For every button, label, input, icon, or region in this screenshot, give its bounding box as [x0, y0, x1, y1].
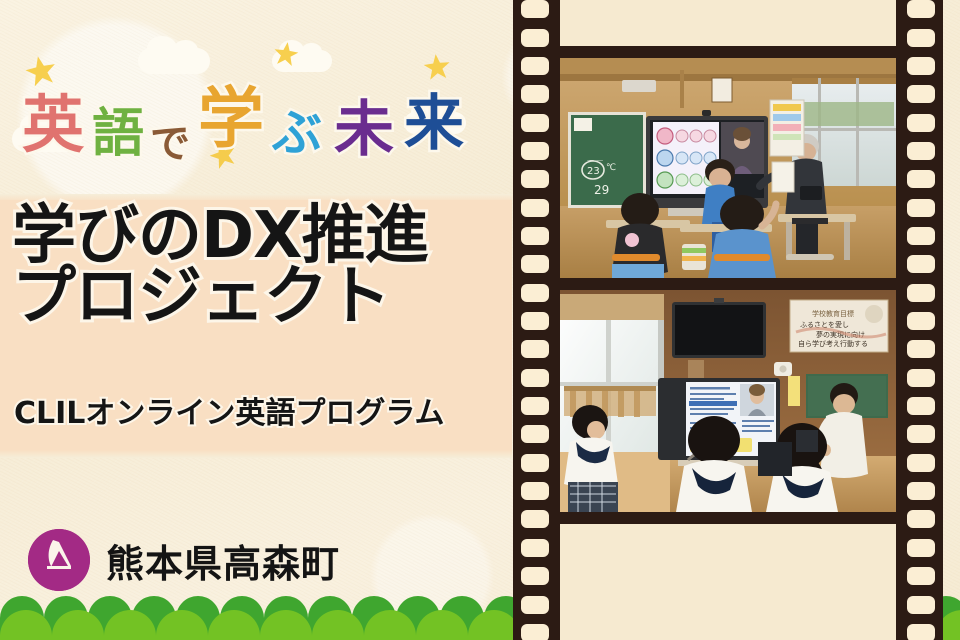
film-perforation — [521, 85, 549, 103]
film-perforation — [521, 510, 549, 528]
film-perforation — [521, 454, 549, 472]
page-subtitle: CLILオンライン英語プログラム — [14, 388, 514, 432]
film-perforation — [521, 142, 549, 160]
film-perforation — [907, 0, 935, 18]
film-perforation — [907, 596, 935, 614]
page-title: 学びのDX推進 プロジェクト — [12, 206, 512, 329]
hero-char-2: で — [150, 124, 190, 164]
film-perforation — [521, 199, 549, 217]
svg-text:自ら学び考え行動する: 自ら学び考え行動する — [798, 339, 868, 348]
title-line-1: 学びのDX推進 — [12, 206, 512, 267]
film-perforation — [521, 397, 549, 415]
frame-top-blank — [560, 0, 896, 46]
film-perforation — [521, 227, 549, 245]
film-perforation — [521, 369, 549, 387]
hero-text: 英語で学ぶ未来 — [22, 82, 502, 174]
film-perforation — [907, 510, 935, 528]
film-perforation — [907, 29, 935, 47]
hero-char-1: 語 — [92, 108, 144, 160]
film-perforation — [521, 57, 549, 75]
film-perforation — [907, 114, 935, 132]
film-perforation — [521, 567, 549, 585]
film-perforation — [907, 397, 935, 415]
hero-char-5: 未 — [334, 100, 394, 160]
frame-photo-junior-high-clil-lesson: 学校教育目標 ふるさとを愛し 夢の実現に向け 自ら学び考え行動する — [560, 290, 896, 512]
film-perforation — [521, 482, 549, 500]
band-bottom-fade — [0, 450, 512, 458]
film-perforation — [907, 567, 935, 585]
film-perforation — [907, 170, 935, 188]
film-perforation — [521, 624, 549, 640]
film-perforation — [907, 142, 935, 160]
film-perforation — [521, 255, 549, 273]
film-perforation — [907, 255, 935, 273]
film-perforation — [907, 57, 935, 75]
film-perforation — [521, 425, 549, 443]
svg-text:℃: ℃ — [606, 163, 616, 173]
film-perforation — [521, 340, 549, 358]
film-perforation — [907, 312, 935, 330]
film-perforation — [907, 340, 935, 358]
film-perforation — [521, 0, 549, 18]
title-line-2: プロジェクト — [12, 267, 512, 328]
frame-photo-elementary-clil-lesson: — — 23 ℃ 29 — [560, 58, 896, 278]
frame-bottom-blank — [560, 524, 896, 640]
film-perforation — [521, 312, 549, 330]
film-perforation — [521, 114, 549, 132]
film-perforation — [907, 199, 935, 217]
hero-headline-art: 英語で学ぶ未来 — [0, 34, 512, 204]
film-perforation — [521, 539, 549, 557]
hero-char-0: 英 — [22, 94, 84, 156]
film-perforation — [521, 170, 549, 188]
star-icon — [423, 53, 452, 82]
cloud-icon — [138, 48, 210, 74]
film-perforation — [907, 227, 935, 245]
svg-text:学校教育目標: 学校教育目標 — [812, 309, 854, 318]
film-perforation — [907, 482, 935, 500]
film-perforation — [907, 284, 935, 302]
poster-canvas: 英語で学ぶ未来 学びのDX推進 プロジェクト CLILオンライン英語プログラム … — [0, 0, 960, 640]
hero-char-6: 来 — [404, 94, 464, 154]
hero-char-4: ぶ — [272, 108, 322, 158]
filmstrip: — — 23 ℃ 29 — [513, 0, 943, 640]
hero-char-3: 学 — [198, 86, 264, 152]
film-perforation — [907, 369, 935, 387]
film-perforation — [907, 454, 935, 472]
film-perforation — [521, 284, 549, 302]
svg-text:23: 23 — [587, 166, 600, 177]
film-perforation — [521, 29, 549, 47]
film-perforation — [907, 539, 935, 557]
film-perforation — [907, 624, 935, 640]
film-perforation — [907, 425, 935, 443]
film-perforation — [907, 85, 935, 103]
svg-text:29: 29 — [594, 183, 609, 197]
film-perforation — [521, 596, 549, 614]
